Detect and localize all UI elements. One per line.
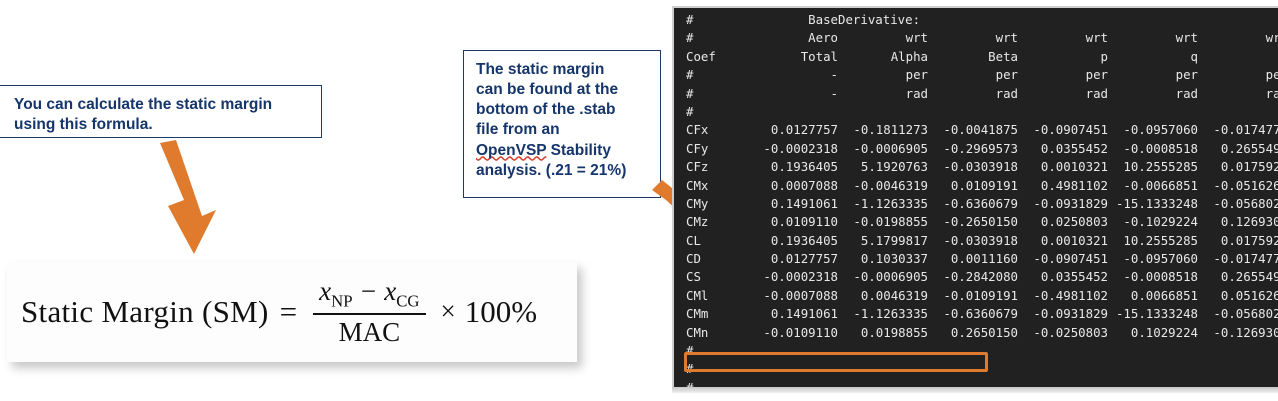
- terminal-header-cell: rad: [1018, 85, 1108, 103]
- terminal-header-cell: per: [838, 66, 928, 84]
- callout-stab-line-4: file from an: [476, 120, 650, 140]
- coefficient-value: 0.1029224: [1108, 324, 1198, 342]
- coefficient-value: 0.0007088: [748, 177, 838, 195]
- arrow-down-to-formula: [150, 138, 260, 258]
- coefficient-value: -0.0568027: [1198, 305, 1278, 323]
- coefficient-value: -0.1269305: [1198, 324, 1278, 342]
- terminal-header-block: #BaseDerivative:#AerowrtwrtwrtwrtwrtCoef…: [674, 11, 1278, 121]
- terminal-header-cell: Beta: [928, 48, 1018, 66]
- coefficient-label: CD: [686, 250, 748, 268]
- coefficient-value: -0.0931829: [1018, 305, 1108, 323]
- coefficient-value: -0.0303918: [928, 232, 1018, 250]
- formula-x-np-subscript: NP: [331, 291, 352, 310]
- coefficient-value: 0.2650150: [928, 324, 1018, 342]
- coefficient-value: 10.2555285: [1108, 158, 1198, 176]
- terminal-header-cell: -: [748, 66, 838, 84]
- terminal-header-cell: -: [748, 85, 838, 103]
- formula-fraction: xNP − xCG MAC: [313, 276, 425, 348]
- formula-expression: Static Margin (SM) = xNP − xCG MAC × 100…: [21, 276, 537, 348]
- coefficient-label: CL: [686, 232, 748, 250]
- coefficient-value: 0.0109191: [928, 177, 1018, 195]
- callout-formula-note: You can calculate the static margin usin…: [0, 85, 322, 138]
- terminal-header-cell: rad: [1198, 85, 1278, 103]
- terminal-header-cell: per: [1198, 66, 1278, 84]
- coefficient-value: 0.1491061: [748, 305, 838, 323]
- coefficient-value: 10.2555285: [1108, 232, 1198, 250]
- terminal-comment-row: #: [674, 342, 1278, 360]
- terminal-comment-row: #: [674, 360, 1278, 378]
- formula-x-cg-subscript: CG: [396, 291, 419, 310]
- coefficient-value: 0.0127757: [748, 121, 838, 139]
- terminal-header-cell: #: [686, 66, 748, 84]
- terminal-coefficient-row: CS-0.0002318-0.0006905-0.28420800.035545…: [674, 268, 1278, 286]
- coefficient-value: 0.1269305: [1198, 213, 1278, 231]
- terminal-comment-row: #: [674, 379, 1278, 387]
- coefficient-value: -0.1029224: [1108, 213, 1198, 231]
- terminal-header-cell: per: [1108, 66, 1198, 84]
- terminal-header-row: #Aerowrtwrtwrtwrtwrt: [674, 29, 1278, 47]
- coefficient-value: -0.0957060: [1108, 121, 1198, 139]
- formula-times: ×: [441, 296, 456, 327]
- terminal-header-cell: q: [1108, 48, 1198, 66]
- formula-equals: =: [280, 294, 297, 330]
- coefficient-value: 0.0175923: [1198, 232, 1278, 250]
- formula-x-np: x: [319, 276, 331, 306]
- coefficient-value: 0.4981102: [1018, 177, 1108, 195]
- callout-stab-line-1: The static margin: [476, 60, 650, 80]
- misspelled-word-openvsp: OpenVSP: [476, 142, 546, 159]
- coefficient-value: -0.0008518: [1108, 268, 1198, 286]
- coefficient-value: -0.0008518: [1108, 140, 1198, 158]
- terminal-header-cell: wrt: [928, 29, 1018, 47]
- terminal-coefficient-row: CMn-0.01091100.01988550.2650150-0.025080…: [674, 324, 1278, 342]
- coefficient-value: -1.1263335: [838, 195, 928, 213]
- terminal-header-row: #BaseDerivative:: [674, 11, 1278, 29]
- terminal-header-cell: #: [686, 103, 748, 121]
- coefficient-value: 0.0066851: [1108, 287, 1198, 305]
- coefficient-value: 0.0010321: [1018, 158, 1108, 176]
- coefficient-value: 0.0198855: [838, 324, 928, 342]
- terminal-coefficient-row: CMy0.1491061-1.1263335-0.6360679-0.09318…: [674, 195, 1278, 213]
- coefficient-label: CFx: [686, 121, 748, 139]
- coefficient-value: -0.0002318: [748, 140, 838, 158]
- terminal-frame-bottom-edge: [672, 387, 1278, 393]
- coefficient-value: -0.0250803: [1018, 324, 1108, 342]
- terminal-header-cell: wrt: [1108, 29, 1198, 47]
- terminal-header-row: #-perperperperper: [674, 66, 1278, 84]
- terminal-header-cell: p: [1018, 48, 1108, 66]
- terminal-header-cell: per: [928, 66, 1018, 84]
- coefficient-value: -0.0006905: [838, 268, 928, 286]
- coefficient-label: CMl: [686, 287, 748, 305]
- terminal-header-cell: Alpha: [838, 48, 928, 66]
- coefficient-value: 0.0175923: [1198, 158, 1278, 176]
- coefficient-value: -0.0907451: [1018, 121, 1108, 139]
- coefficient-value: 0.2655492: [1198, 268, 1278, 286]
- coefficient-label: CMm: [686, 305, 748, 323]
- terminal-coefficient-row: CFx0.0127757-0.1811273-0.0041875-0.09074…: [674, 121, 1278, 139]
- coefficient-value: -0.6360679: [928, 305, 1018, 323]
- formula-denominator: MAC: [333, 315, 407, 348]
- coefficient-value: -0.0174770: [1198, 121, 1278, 139]
- coefficient-value: -15.1333248: [1108, 195, 1198, 213]
- terminal-header-cell: wrt: [838, 29, 928, 47]
- terminal-header-cell: wrt: [1198, 29, 1278, 47]
- terminal-header-cell: per: [1018, 66, 1108, 84]
- terminal-header-cell: #: [686, 29, 748, 47]
- coefficient-value: -0.1811273: [838, 121, 928, 139]
- terminal-header-row: CoefTotalAlphaBetapqr: [674, 48, 1278, 66]
- coefficient-value: -0.2969573: [928, 140, 1018, 158]
- coefficient-value: -0.0303918: [928, 158, 1018, 176]
- coefficient-value: -0.0041875: [928, 121, 1018, 139]
- callout-formula-line-1: You can calculate the static margin: [14, 95, 309, 115]
- terminal-header-cell: rad: [838, 85, 928, 103]
- coefficient-value: -0.0957060: [1108, 250, 1198, 268]
- coefficient-value: -0.2650150: [928, 213, 1018, 231]
- terminal-spacer-rows: ###: [674, 342, 1278, 387]
- coefficient-value: -0.0002318: [748, 268, 838, 286]
- callout-stab-line-6: analysis. (.21 = 21%): [476, 161, 650, 181]
- coefficient-value: 0.0011160: [928, 250, 1018, 268]
- coefficient-value: 0.1491061: [748, 195, 838, 213]
- coefficient-value: -0.0931829: [1018, 195, 1108, 213]
- coefficient-value: 0.2655492: [1198, 140, 1278, 158]
- callout-formula-line-2: using this formula.: [14, 115, 309, 135]
- coefficient-value: 0.0250803: [1018, 213, 1108, 231]
- terminal-header-cell: wrt: [1018, 29, 1108, 47]
- coefficient-label: CFy: [686, 140, 748, 158]
- coefficient-value: 0.0109110: [748, 213, 838, 231]
- formula-lhs: Static Margin (SM): [21, 294, 269, 330]
- coefficient-value: -0.0046319: [838, 177, 928, 195]
- coefficient-value: 5.1799817: [838, 232, 928, 250]
- coefficient-value: -0.0198855: [838, 213, 928, 231]
- coefficient-value: 5.1920763: [838, 158, 928, 176]
- terminal-header-cell: Total: [748, 48, 838, 66]
- coefficient-value: -1.1263335: [838, 305, 928, 323]
- coefficient-value: -0.0568027: [1198, 195, 1278, 213]
- coefficient-value: 0.0046319: [838, 287, 928, 305]
- coefficient-value: 0.0516265: [1198, 287, 1278, 305]
- callout-stab-line-2: can be found at the: [476, 80, 650, 100]
- terminal-header-cell: rad: [928, 85, 1018, 103]
- formula-minus: −: [359, 276, 377, 306]
- coefficient-value: -0.2842080: [928, 268, 1018, 286]
- coefficient-value: -0.0109110: [748, 324, 838, 342]
- coefficient-value: 0.1936405: [748, 232, 838, 250]
- formula-x-cg: x: [384, 276, 396, 306]
- coefficient-value: 0.0355452: [1018, 268, 1108, 286]
- coefficient-value: 0.1030337: [838, 250, 928, 268]
- coefficient-value: -0.0066851: [1108, 177, 1198, 195]
- coefficient-value: -0.0516265: [1198, 177, 1278, 195]
- callout-stab-line-5-rest: Stability: [546, 142, 611, 159]
- callout-stab-line-3: bottom of the .stab: [476, 100, 650, 120]
- static-margin-formula: Static Margin (SM) = xNP − xCG MAC × 100…: [7, 262, 577, 362]
- terminal-header-cell: rad: [1108, 85, 1198, 103]
- coefficient-label: CMz: [686, 213, 748, 231]
- coefficient-value: -0.0006905: [838, 140, 928, 158]
- terminal-header-cell: Derivative:: [838, 11, 948, 29]
- coefficient-value: -15.1333248: [1108, 305, 1198, 323]
- terminal-header-cell: Aero: [748, 29, 838, 47]
- terminal-data-rows: CFx0.0127757-0.1811273-0.0041875-0.09074…: [674, 121, 1278, 342]
- terminal-header-row: #-radradradradrad: [674, 85, 1278, 103]
- terminal-coefficient-row: CMm0.1491061-1.1263335-0.6360679-0.09318…: [674, 305, 1278, 323]
- coefficient-value: -0.6360679: [928, 195, 1018, 213]
- coefficient-value: 0.1936405: [748, 158, 838, 176]
- terminal-header-cell: #: [686, 85, 748, 103]
- terminal-header-cell: Coef: [686, 48, 748, 66]
- terminal-coefficient-row: CFz0.19364055.1920763-0.03039180.0010321…: [674, 158, 1278, 176]
- coefficient-value: -0.4981102: [1018, 287, 1108, 305]
- terminal-coefficient-row: CD0.01277570.10303370.0011160-0.0907451-…: [674, 250, 1278, 268]
- terminal-coefficient-row: CMz0.0109110-0.0198855-0.26501500.025080…: [674, 213, 1278, 231]
- coefficient-label: CFz: [686, 158, 748, 176]
- coefficient-label: CMn: [686, 324, 748, 342]
- terminal-coefficient-row: CFy-0.0002318-0.0006905-0.29695730.03554…: [674, 140, 1278, 158]
- formula-numerator: xNP − xCG: [313, 276, 425, 313]
- coefficient-value: 0.0010321: [1018, 232, 1108, 250]
- coefficient-label: CS: [686, 268, 748, 286]
- terminal-coefficient-row: CMl-0.00070880.0046319-0.0109191-0.49811…: [674, 287, 1278, 305]
- formula-rhs: 100%: [465, 294, 537, 330]
- coefficient-value: -0.0007088: [748, 287, 838, 305]
- terminal-header-cell: Base: [748, 11, 838, 29]
- terminal-coefficient-row: CL0.19364055.1799817-0.03039180.00103211…: [674, 232, 1278, 250]
- coefficient-value: 0.0355452: [1018, 140, 1108, 158]
- callout-stab-line-5: OpenVSP Stability: [476, 141, 650, 161]
- coefficient-label: CMy: [686, 195, 748, 213]
- terminal-header-cell: #: [686, 11, 748, 29]
- coefficient-label: CMx: [686, 177, 748, 195]
- stab-file-terminal-output: #BaseDerivative:#AerowrtwrtwrtwrtwrtCoef…: [672, 6, 1278, 387]
- coefficient-value: -0.0907451: [1018, 250, 1108, 268]
- callout-stab-note: The static margin can be found at the bo…: [463, 50, 661, 198]
- terminal-coefficient-row: CMx0.0007088-0.00463190.01091910.4981102…: [674, 177, 1278, 195]
- terminal-header-cell: r: [1198, 48, 1278, 66]
- coefficient-value: 0.0127757: [748, 250, 838, 268]
- terminal-header-row: #: [674, 103, 1278, 121]
- coefficient-value: -0.0174770: [1198, 250, 1278, 268]
- coefficient-value: -0.0109191: [928, 287, 1018, 305]
